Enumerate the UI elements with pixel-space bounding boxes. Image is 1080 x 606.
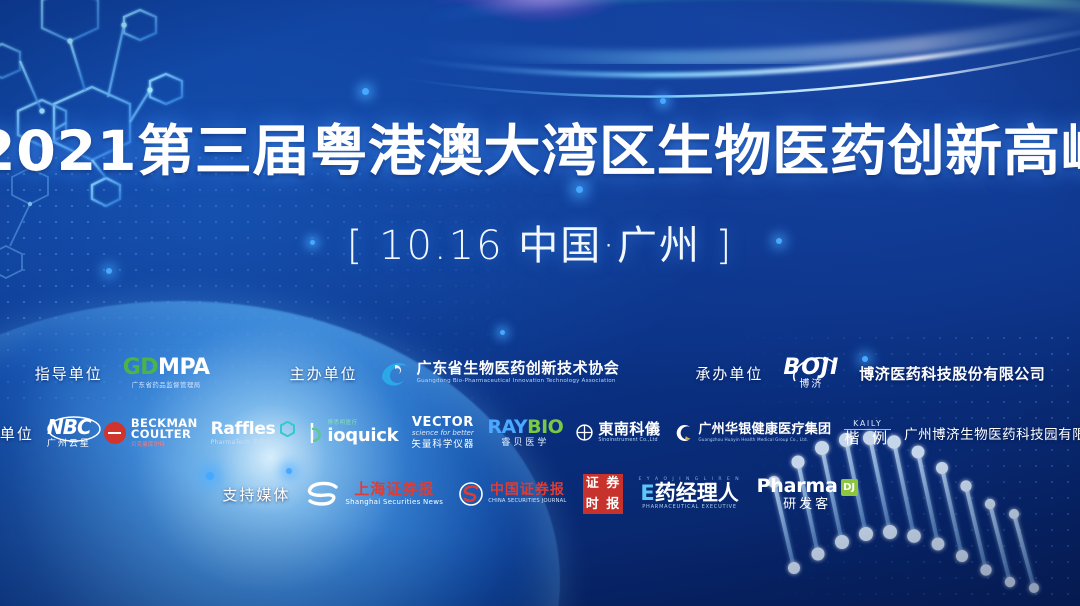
huayin-name-en: Guangzhou Huayin Health Medical Group Co… xyxy=(698,438,808,442)
logo-kaily[interactable]: KAILY 楷 例 xyxy=(844,420,891,446)
wave-swirl-icon xyxy=(378,356,412,390)
label-guidance-unit: 指导单位 xyxy=(35,363,103,384)
eyao-wordmark: E药经理人 xyxy=(640,483,738,504)
glow-dot-accent xyxy=(500,330,505,335)
subtitle-block: [ 10.16 中国·广州 ] xyxy=(0,226,1080,266)
logo-bioquick[interactable]: 博思明医疗 ioquick xyxy=(308,421,398,445)
glow-dot-accent xyxy=(106,268,112,274)
dongnan-name-en: Sinoinstrument Co.,Ltd xyxy=(598,439,657,444)
boji-biopark-company-name: 广州博济生物医药科技园有限公司 xyxy=(904,423,1080,443)
shanghai-securities-name-cn: 上海证券报 xyxy=(354,482,434,497)
raffles-wordmark: Raffles xyxy=(211,421,276,438)
boji-company-name: 博济医药科技股份有限公司 xyxy=(859,363,1045,384)
vector-name-cn: 矢量科学仪器 xyxy=(411,440,474,450)
label-co-organizer-unit: 协办单位 xyxy=(0,423,34,444)
logo-pharmadj[interactable]: PharmaDJ 研发客 xyxy=(757,477,858,512)
hexagon-icon xyxy=(280,421,295,437)
logo-raybio[interactable]: RAYBIO 睿贝医学 xyxy=(487,418,563,448)
s-circle-icon xyxy=(459,482,483,506)
eyao-e-text: E xyxy=(640,481,654,505)
raybio-bio-text: BIO xyxy=(527,416,563,438)
label-organizer-unit: 主办单位 xyxy=(290,363,358,384)
china-securities-name-cn: 中国证券报 xyxy=(490,483,565,497)
logo-raffles[interactable]: Raffles PharmaTech 莱佛士 xyxy=(211,421,296,446)
sponsor-rows: 指导单位 GDMPA 广东省药品监督管理局 主办单位 广东省生物医药创新技术协会… xyxy=(0,344,1080,524)
seal-char-2: 券 xyxy=(603,474,623,494)
association-name-cn: 广东省生物医药创新技术协会 xyxy=(417,361,620,376)
gdmpa-gd-text: GD xyxy=(123,355,158,380)
vector-wordmark: VECTOR xyxy=(412,416,474,429)
bioquick-wordmark: ioquick xyxy=(327,427,398,445)
eyao-cn-text: 药经理人 xyxy=(655,481,739,505)
logo-beckman-coulter[interactable]: BECKMAN COULTER 贝克曼库尔特 xyxy=(104,418,198,449)
circle-cross-icon xyxy=(576,424,593,441)
seal-char-3: 时 xyxy=(583,495,603,515)
vector-tagline: science for better xyxy=(412,430,474,437)
boji-orbit-icon xyxy=(789,355,841,389)
raybio-wordmark: RAYBIO xyxy=(487,418,563,437)
sponsor-row-media: 支持媒体 上海证券报 Shanghai Securities News 中国证券… xyxy=(0,464,1080,524)
china-securities-name-en: CHINA SECURITIES JOURNAL xyxy=(488,499,566,504)
logo-boji[interactable]: BOJI 博济 xyxy=(783,357,839,390)
crescent-icon xyxy=(673,423,693,443)
sponsor-row-co-organizers: 协办单位 NBC 广州云星 BECKMAN COULTER 贝克曼库尔特 xyxy=(0,402,1080,464)
glow-dot-accent xyxy=(576,186,583,193)
glow-dot-accent xyxy=(362,88,369,95)
glow-dot-accent xyxy=(660,98,666,104)
shanghai-securities-name-en: Shanghai Securities News xyxy=(345,499,443,506)
association-name-en: Guangdong Bio-Pharmaceutical Innovation … xyxy=(417,379,616,385)
gdmpa-subtitle: 广东省药品监督管理局 xyxy=(132,382,201,389)
logo-securities-times[interactable]: 证 券 时 报 xyxy=(583,474,623,514)
seal-char-4: 报 xyxy=(603,495,623,515)
logo-guangzhou-yunxing[interactable]: NBC 广州云星 xyxy=(47,417,91,449)
securities-times-seal: 证 券 时 报 xyxy=(583,474,623,514)
label-host-unit: 承办单位 xyxy=(695,363,763,384)
logo-china-securities-journal[interactable]: 中国证券报 CHINA SECURITIES JOURNAL xyxy=(459,482,566,506)
kaily-wordmark-en: KAILY xyxy=(853,420,882,428)
raffles-subtitle: PharmaTech 莱佛士 xyxy=(211,440,272,446)
logo-dongnan-keyi[interactable]: 東南科儀 Sinoinstrument Co.,Ltd xyxy=(576,422,660,444)
gdmpa-mpa-text: MPA xyxy=(158,355,210,380)
pharmadj-wordmark: PharmaDJ xyxy=(757,477,858,497)
huayin-name-cn: 广州华银健康医疗集团 xyxy=(698,423,831,436)
sponsor-row-primary: 指导单位 GDMPA 广东省药品监督管理局 主办单位 广东省生物医药创新技术协会… xyxy=(0,344,1080,402)
pharmadj-name-cn: 研发客 xyxy=(783,498,831,511)
conference-poster: 2021第三届粤港澳大湾区生物医药创新高峰论坛 [ 10.16 中国·广州 ] … xyxy=(0,0,1080,606)
label-supporting-media: 支持媒体 xyxy=(222,484,290,505)
logo-eyao-jinglirén[interactable]: E Y A O J I N G L I R E N E药经理人 PHARMACE… xyxy=(639,478,741,510)
seal-char-1: 证 xyxy=(583,474,603,494)
logo-shanghai-securities-news[interactable]: 上海证券报 Shanghai Securities News xyxy=(306,481,443,507)
pharma-text: Pharma xyxy=(757,475,838,497)
page-title: 2021第三届粤港澳大湾区生物医药创新高峰论坛 xyxy=(0,124,1080,179)
logo-huayin-health[interactable]: 广州华银健康医疗集团 Guangzhou Huayin Health Medic… xyxy=(673,423,831,443)
dongnan-wordmark: 東南科儀 xyxy=(598,422,660,437)
beckman-name-cn: 贝克曼库尔特 xyxy=(131,443,165,449)
logo-vector[interactable]: VECTOR science for better 矢量科学仪器 xyxy=(411,416,474,450)
logo-gd-biopharma-association[interactable]: 广东省生物医药创新技术协会 Guangdong Bio-Pharmaceutic… xyxy=(378,356,620,390)
beckman-line2: COULTER xyxy=(131,429,191,441)
dj-badge: DJ xyxy=(841,479,858,496)
s-swirl-icon xyxy=(306,481,340,507)
gdmpa-wordmark: GDMPA xyxy=(123,357,210,379)
raybio-name-cn: 睿贝医学 xyxy=(501,439,549,448)
bioquick-b-icon xyxy=(308,421,324,445)
title-block: 2021第三届粤港澳大湾区生物医药创新高峰论坛 xyxy=(0,124,1080,179)
logo-gdmpa[interactable]: GDMPA 广东省药品监督管理局 xyxy=(123,357,210,389)
kaily-wordmark-cn: 楷 例 xyxy=(844,429,891,446)
raybio-ray-text: RAY xyxy=(487,416,527,438)
eyao-name-en: PHARMACEUTICAL EXECUTIVE xyxy=(642,505,737,510)
event-date-location: [ 10.16 中国·广州 ] xyxy=(347,226,734,266)
yunxing-ellipse-icon xyxy=(47,416,101,442)
beckman-dot-icon xyxy=(104,422,126,444)
